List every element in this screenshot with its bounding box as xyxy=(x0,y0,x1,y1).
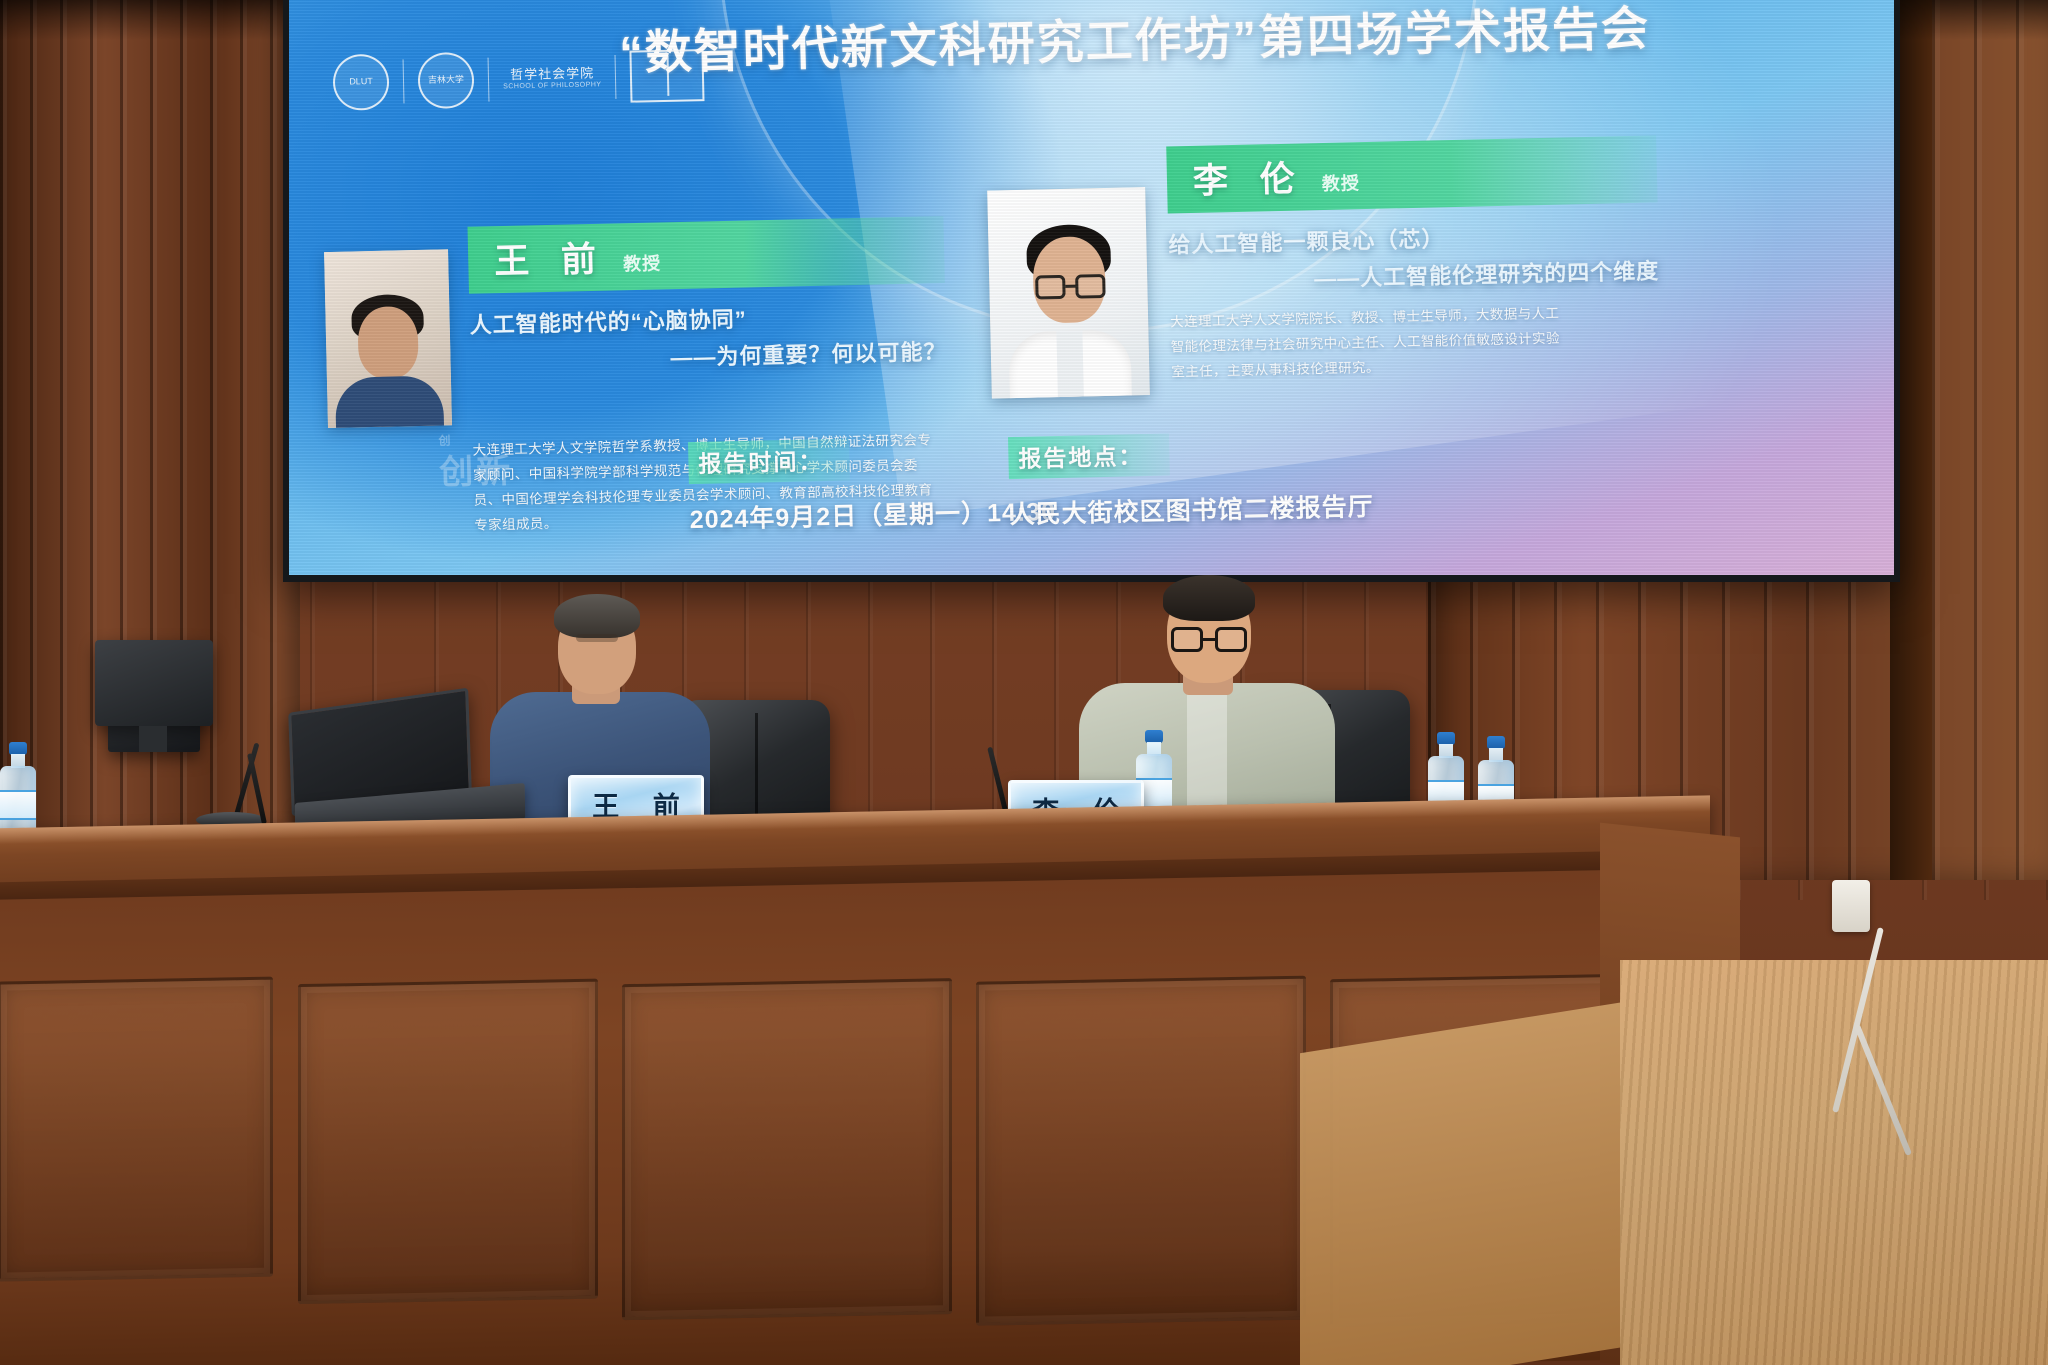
logo-3-text: 哲学社会学院 xyxy=(510,65,594,82)
speaker-left-talk: 人工智能时代的“心脑协同” ——为何重要？何以可能？ xyxy=(469,297,946,377)
speaker-left-namebar: 王 前 教授 xyxy=(468,216,945,294)
university-seal-2-icon: 吉林大学 xyxy=(417,52,474,109)
desktop-monitor xyxy=(95,640,213,726)
logo-1-text: DLUT xyxy=(349,77,373,87)
speaker-right-photo xyxy=(987,187,1150,399)
logo-row: DLUT 吉林大学 哲学社会学院 SCHOOL OF PHILOSOPHY xyxy=(332,47,705,111)
speaker-left-photo xyxy=(324,249,452,428)
university-seal-1-icon: DLUT xyxy=(332,54,389,111)
watermark-line1: 创 xyxy=(438,430,512,449)
speaker-right-talk-line1: 给人工智能一颗良心（芯） xyxy=(1168,226,1445,257)
library-book-icon xyxy=(630,49,705,103)
speaker-left-name: 王 前 xyxy=(494,231,608,285)
table-panel-2 xyxy=(298,979,598,1304)
screen-watermark: 创 创新 xyxy=(438,430,513,494)
speaker-right-namebar: 李 伦 教授 xyxy=(1166,135,1657,213)
report-time-block: 报告时间： 2024年9月2日（星期一）14:30 xyxy=(688,434,1056,536)
report-time-label: 报告时间： xyxy=(688,439,850,485)
speaker-right-talk: 给人工智能一颗良心（芯） ——人工智能伦理研究的四个维度 xyxy=(1168,216,1659,296)
logo-3-sub: SCHOOL OF PHILOSOPHY xyxy=(503,81,602,92)
floor-wood xyxy=(1620,960,2048,1365)
table-panel-1 xyxy=(0,977,273,1282)
report-time-value: 2024年9月2日（星期一）14:30 xyxy=(689,492,1056,536)
speaker-left-talk-line2: ——为何重要？何以可能？ xyxy=(470,334,947,377)
logo-2-text: 吉林大学 xyxy=(428,75,464,85)
wall-power-outlet xyxy=(1832,880,1870,932)
watermark-line2: 创新 xyxy=(439,452,514,492)
logo-divider-2 xyxy=(488,58,490,102)
led-display-frame: “数智时代新文科研究工作坊”第四场学术报告会 DLUT 吉林大学 哲学社会学院 … xyxy=(283,0,1900,582)
table-panel-4 xyxy=(976,976,1306,1326)
speaker-left-talk-line1: 人工智能时代的“心脑协同” xyxy=(469,306,747,337)
report-venue-label: 报告地点： xyxy=(1008,433,1170,479)
conference-hall-scene: “数智时代新文科研究工作坊”第四场学术报告会 DLUT 吉林大学 哲学社会学院 … xyxy=(0,0,2048,1365)
led-display-screen: “数智时代新文科研究工作坊”第四场学术报告会 DLUT 吉林大学 哲学社会学院 … xyxy=(289,0,1894,575)
speaker-left-title: 教授 xyxy=(623,249,662,276)
report-venue-block: 报告地点： 人民大街校区图书馆二楼报告厅 xyxy=(1008,429,1374,531)
speaker-right-card: 李 伦 教授 给人工智能一颗良心（芯） ——人工智能伦理研究的四个维度 大连理工… xyxy=(986,135,1661,398)
table-panel-3 xyxy=(622,978,952,1320)
logo-divider xyxy=(403,59,405,103)
speaker-right-title: 教授 xyxy=(1322,169,1361,196)
institute-wordmark-icon: 哲学社会学院 SCHOOL OF PHILOSOPHY xyxy=(503,65,602,92)
logo-divider-3 xyxy=(615,55,617,99)
speaker-right-talk-line2: ——人工智能伦理研究的四个维度 xyxy=(1169,253,1660,296)
report-venue-value: 人民大街校区图书馆二楼报告厅 xyxy=(1009,487,1374,531)
speaker-right-bio: 大连理工大学人文学院院长、教授、博士生导师，大数据与人工智能伦理法律与社会研究中… xyxy=(1170,301,1572,385)
speaker-right-name: 李 伦 xyxy=(1192,150,1306,204)
